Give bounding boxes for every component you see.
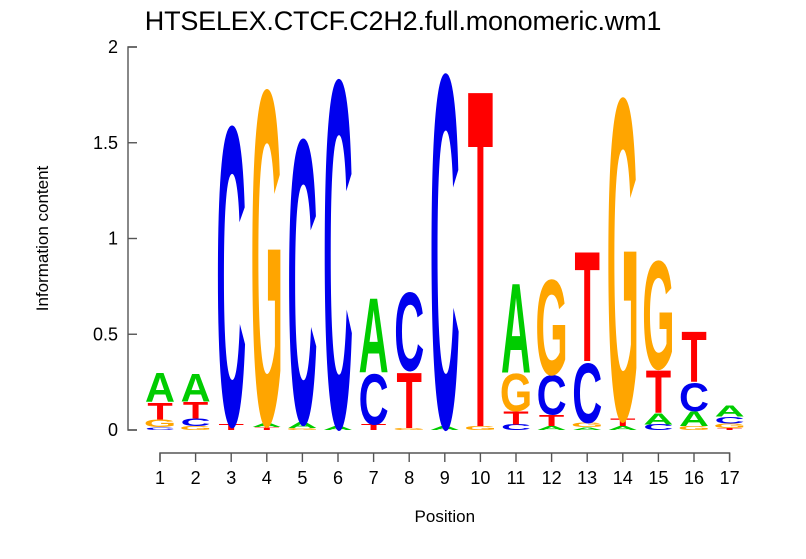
logo-stack-position-1: CGTA: [144, 364, 176, 431]
y-axis-title: Information content: [33, 165, 52, 311]
logo-letter-G-pos4: G: [251, 0, 283, 526]
logo-stack-position-2: GCTA: [179, 365, 211, 431]
x-tick-label-8: 8: [404, 468, 414, 488]
x-tick-label-12: 12: [542, 468, 562, 488]
logo-letter-T-pos13: T: [575, 220, 600, 395]
logo-letter-C-pos9: C: [430, 0, 460, 535]
x-tick-label-15: 15: [648, 468, 668, 488]
logo-stack-position-8: GTC: [393, 269, 425, 446]
x-tick-label-17: 17: [720, 468, 740, 488]
logo-letter-A-pos1: A: [145, 364, 175, 411]
logo-stack-position-7: TCA: [359, 278, 389, 441]
y-tick-label-1: 1: [108, 229, 118, 249]
y-tick-label-2: 2: [108, 37, 118, 57]
logo-stack-position-9: AC: [430, 0, 460, 535]
logo-stack-position-17: TGCA: [713, 402, 745, 431]
logo-stack-position-16: GACT: [678, 318, 710, 431]
y-tick-label-0.5: 0.5: [93, 324, 118, 344]
y-tick-label-0: 0: [108, 420, 118, 440]
logo-letter-A-pos11: A: [501, 258, 531, 401]
x-tick-label-16: 16: [684, 468, 704, 488]
x-tick-label-2: 2: [191, 468, 201, 488]
logo-stack-position-6: AC: [323, 0, 353, 532]
y-axis: 00.511.52: [93, 37, 137, 440]
logo-letter-C-pos6: C: [323, 0, 353, 532]
y-tick-label-1.5: 1.5: [93, 133, 118, 153]
logo-letter-A-pos7: A: [359, 278, 389, 397]
logo-stack-position-3: TC: [216, 39, 246, 516]
logo-letter-G-pos14: G: [607, 3, 639, 517]
x-tick-label-11: 11: [507, 468, 526, 488]
logo-stack-position-4: TAG: [251, 0, 283, 526]
logo-letter-A-pos2: A: [181, 365, 211, 410]
logo-stacks: CGTAGCTATCTAGGACACTCAGTCACGTCTGAATCGAGCT…: [144, 0, 746, 535]
logo-stack-position-10: GT: [464, 0, 496, 529]
logo-stack-position-11: CTGA: [500, 258, 532, 432]
x-tick-label-7: 7: [369, 468, 379, 488]
logo-stack-position-12: ATCG: [535, 253, 567, 432]
logo-letter-C-pos3: C: [216, 39, 246, 516]
logo-letter-G-pos15: G: [642, 229, 674, 402]
sequence-logo-figure: HTSELEX.CTCF.C2H2.full.monomeric.wm1 00.…: [0, 0, 806, 559]
logo-letter-G-pos12: G: [535, 253, 567, 405]
logo-stack-position-5: GAC: [286, 55, 318, 509]
logo-letter-C-pos5: C: [287, 55, 317, 509]
logo-letter-T-pos10: T: [468, 0, 493, 529]
x-axis-title: Position: [415, 507, 475, 526]
plot-area: 00.511.52 1234567891011121314151617 CGTA…: [0, 0, 806, 559]
x-tick-label-1: 1: [155, 468, 165, 488]
logo-letter-T-pos16: T: [681, 318, 706, 398]
logo-stack-position-13: AGCT: [571, 220, 603, 441]
logo-stack-position-14: ATG: [607, 3, 639, 517]
logo-letter-A-pos17: A: [715, 402, 745, 420]
logo-stack-position-15: CATG: [642, 229, 674, 431]
logo-letter-C-pos8: C: [394, 269, 424, 395]
x-tick-label-13: 13: [577, 468, 597, 488]
